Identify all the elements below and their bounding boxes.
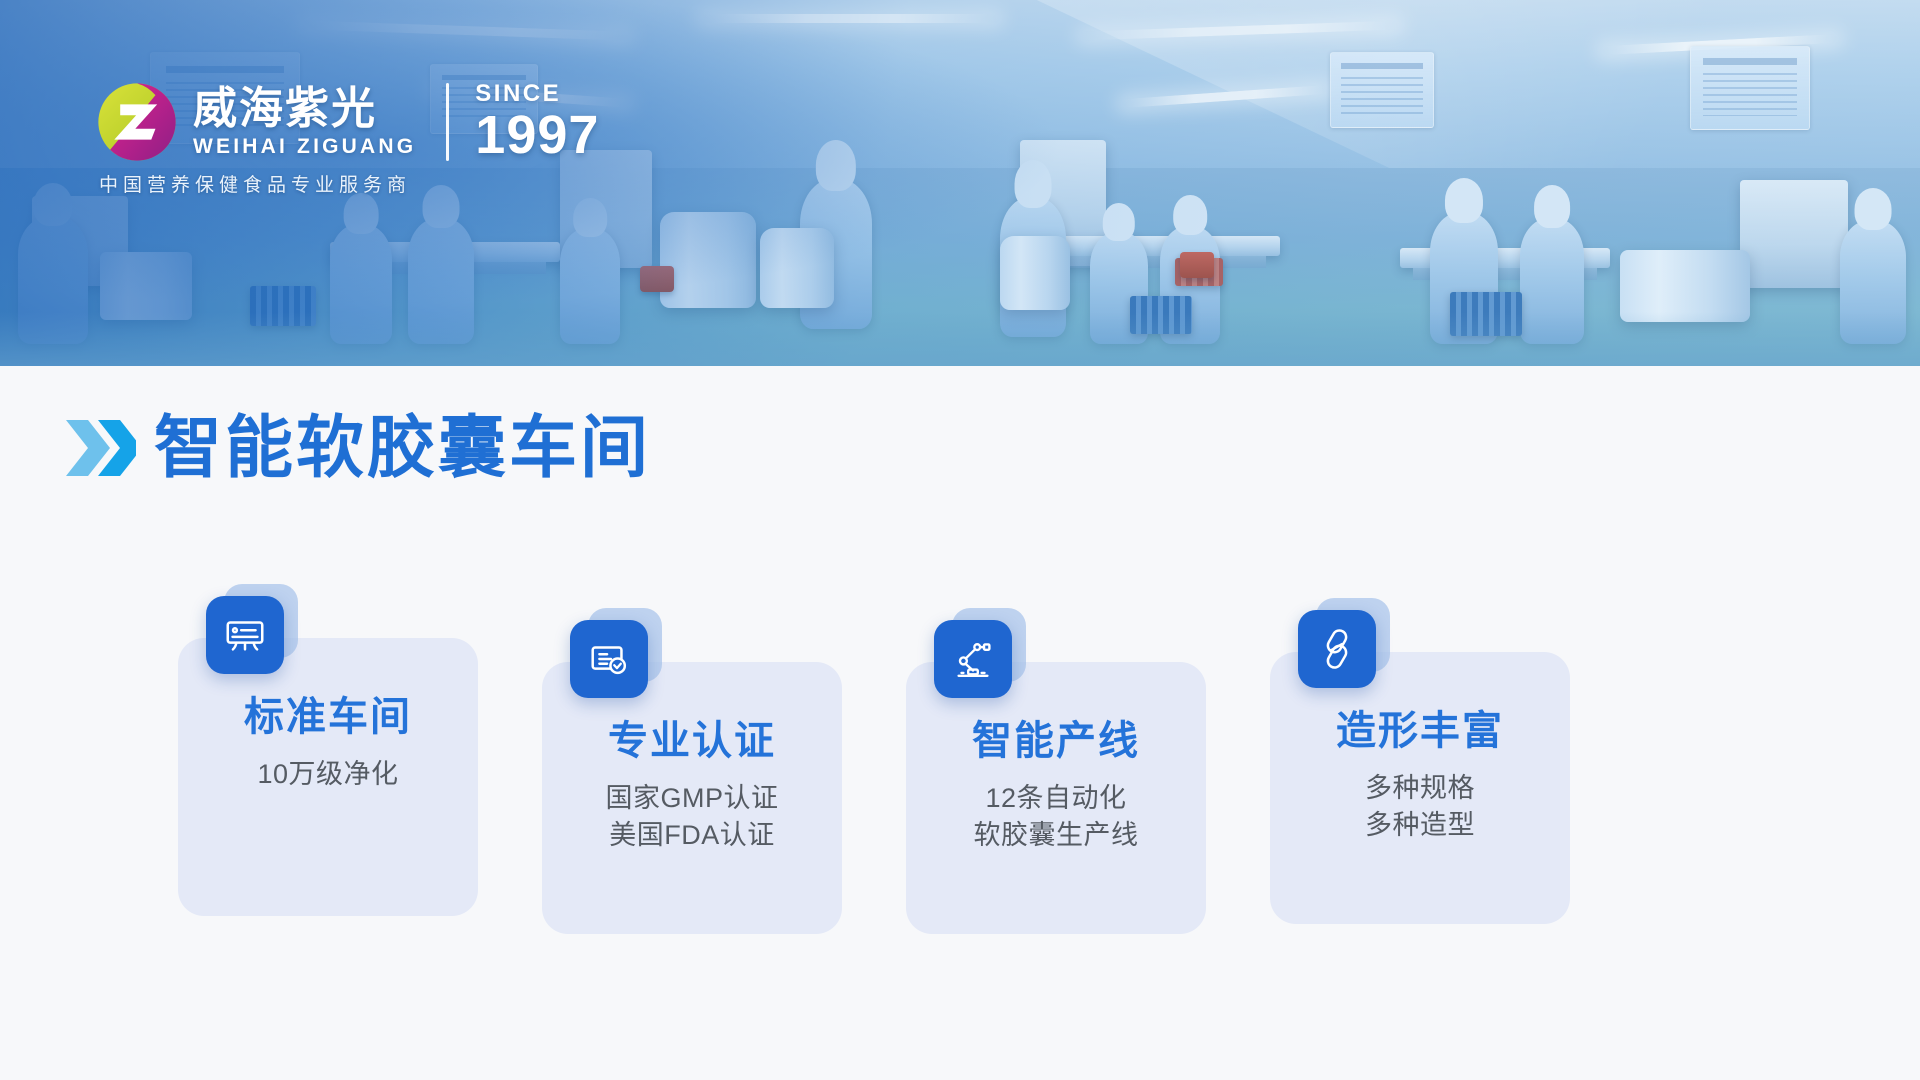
feature-card[interactable]: 标准车间 10万级净化 bbox=[178, 638, 478, 916]
card-icon bbox=[934, 608, 1030, 704]
softgel-capsule-icon bbox=[1314, 626, 1360, 672]
card-body: 10万级净化 bbox=[200, 756, 456, 793]
card-title: 专业认证 bbox=[564, 718, 820, 764]
icon-tile bbox=[570, 620, 648, 698]
card-body: 多种规格 多种造型 bbox=[1292, 770, 1548, 845]
card-body-line: 软胶囊生产线 bbox=[928, 817, 1184, 854]
page-title: 智能软胶囊车间 bbox=[154, 414, 651, 482]
icon-tile bbox=[206, 596, 284, 674]
ziguang-z-logo-icon bbox=[95, 80, 179, 164]
card-body-line: 10万级净化 bbox=[200, 756, 456, 793]
card-body-line: 多种造型 bbox=[1292, 807, 1548, 844]
brand-name-cn: 威海紫光 bbox=[193, 87, 416, 132]
card-icon bbox=[1298, 598, 1394, 694]
card-title: 智能产线 bbox=[928, 718, 1184, 764]
certificate-check-icon bbox=[586, 636, 632, 682]
brand-tagline: 中国营养保健食品专业服务商 bbox=[99, 170, 599, 197]
icon-tile bbox=[1298, 610, 1376, 688]
hero-bottom-fade bbox=[0, 312, 1920, 366]
double-chevron-right-icon bbox=[62, 416, 136, 480]
feature-card[interactable]: 专业认证 国家GMP认证 美国FDA认证 bbox=[542, 662, 842, 934]
card-icon bbox=[206, 584, 302, 680]
logo-wordmark: 威海紫光 WEIHAI ZIGUANG bbox=[193, 87, 416, 158]
card-title: 造形丰富 bbox=[1292, 708, 1548, 754]
feature-card-list: 标准车间 10万级净化 专业认 bbox=[178, 638, 1570, 934]
card-body-line: 12条自动化 bbox=[928, 780, 1184, 817]
feature-card[interactable]: 造形丰富 多种规格 多种造型 bbox=[1270, 652, 1570, 924]
card-body-line: 多种规格 bbox=[1292, 770, 1548, 807]
robot-arm-icon bbox=[950, 636, 996, 682]
card-body-line: 美国FDA认证 bbox=[564, 817, 820, 854]
air-purifier-icon bbox=[222, 612, 268, 658]
card-title: 标准车间 bbox=[200, 694, 456, 740]
feature-card[interactable]: 智能产线 12条自动化 软胶囊生产线 bbox=[906, 662, 1206, 934]
brand-name-en: WEIHAI ZIGUANG bbox=[193, 136, 416, 157]
logo-divider bbox=[446, 83, 449, 161]
since-label: SINCE bbox=[475, 82, 599, 106]
logo-row: 威海紫光 WEIHAI ZIGUANG SINCE 1997 bbox=[95, 80, 599, 164]
hero-banner: 威海紫光 WEIHAI ZIGUANG SINCE 1997 中国营养保健食品专… bbox=[0, 0, 1920, 366]
section-title-row: 智能软胶囊车间 bbox=[62, 414, 651, 482]
page-root: 威海紫光 WEIHAI ZIGUANG SINCE 1997 中国营养保健食品专… bbox=[0, 0, 1920, 1080]
card-body-line: 国家GMP认证 bbox=[564, 780, 820, 817]
icon-tile bbox=[934, 620, 1012, 698]
card-body: 国家GMP认证 美国FDA认证 bbox=[564, 780, 820, 855]
since-block: SINCE 1997 bbox=[475, 82, 599, 162]
brand-logo-block: 威海紫光 WEIHAI ZIGUANG SINCE 1997 中国营养保健食品专… bbox=[95, 80, 599, 197]
card-body: 12条自动化 软胶囊生产线 bbox=[928, 780, 1184, 855]
card-icon bbox=[570, 608, 666, 704]
since-year: 1997 bbox=[475, 108, 599, 162]
